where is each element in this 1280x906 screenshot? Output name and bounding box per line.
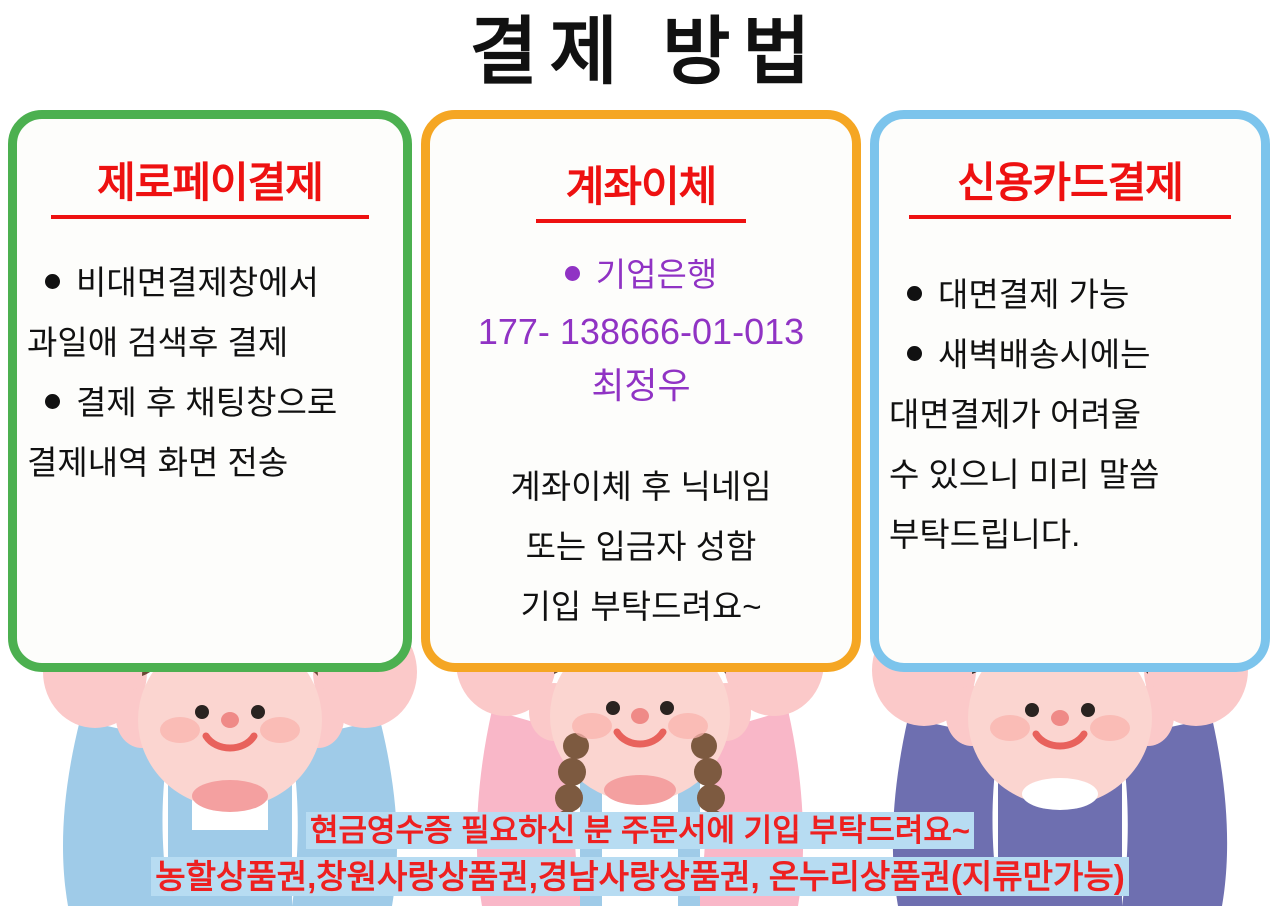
transfer-note-line: 계좌이체 후 닉네임 — [440, 457, 842, 517]
page-title: 결제 방법 — [0, 4, 1280, 100]
card-zeropay-body: 비대면결제창에서 과일애 검색후 결제 결제 후 채팅창으로 결제내역 화면 전… — [27, 253, 393, 493]
list-item: 새벽배송시에는 — [889, 325, 1251, 385]
list-item: 대면결제가 어려울 — [889, 385, 1251, 445]
list-item-label: 과일애 검색후 결제 — [27, 324, 288, 361]
payment-method-cards: 제로페이결제 비대면결제창에서 과일애 검색후 결제 결제 후 채팅창으로 결제… — [0, 110, 1280, 675]
banner-line-gift-certificates: 농할상품권,창원사랑상품권,경남사랑상품권, 온누리상품권(지류만가능) — [0, 854, 1280, 900]
bottom-banner: 현금영수증 필요하신 분 주문서에 기입 부탁드려요~ 농할상품권,창원사랑상품… — [0, 808, 1280, 900]
bullet-icon — [565, 266, 580, 281]
bank-name-row: 기업은행 — [440, 245, 842, 305]
list-item-label: 대면결제 가능 — [938, 276, 1129, 313]
card-credit-card-body: 대면결제 가능 새벽배송시에는 대면결제가 어려울 수 있으니 미리 말씀 부탁… — [889, 265, 1251, 565]
card-bank-transfer: 계좌이체 기업은행 177- 138666-01-013 최정우 계좌이체 후 … — [421, 110, 861, 672]
bank-name-label: 기업은행 — [596, 256, 717, 293]
payment-method-poster: 결제 방법 — [0, 0, 1280, 906]
list-item-label: 결제내역 화면 전송 — [27, 444, 288, 481]
bullet-icon — [45, 274, 60, 289]
list-item: 수 있으니 미리 말씀 — [889, 445, 1251, 505]
list-item: 대면결제 가능 — [889, 265, 1251, 325]
list-item-label: 결제 후 채팅창으로 — [76, 384, 337, 421]
card-bank-transfer-body: 기업은행 177- 138666-01-013 최정우 계좌이체 후 닉네임 또… — [440, 245, 842, 637]
banner-line-1-text: 현금영수증 필요하신 분 주문서에 기입 부탁드려요~ — [306, 812, 974, 849]
list-item-label: 대면결제가 어려울 — [889, 396, 1141, 433]
card-credit-card-title-underline — [909, 215, 1231, 219]
list-item: 결제내역 화면 전송 — [27, 433, 393, 493]
list-item-label: 새벽배송시에는 — [938, 336, 1151, 373]
card-zeropay-title-underline — [51, 215, 369, 219]
card-zeropay: 제로페이결제 비대면결제창에서 과일애 검색후 결제 결제 후 채팅창으로 결제… — [8, 110, 412, 672]
transfer-note-line: 또는 입금자 성함 — [440, 517, 842, 577]
spacer — [440, 413, 842, 457]
banner-line-cash-receipt: 현금영수증 필요하신 분 주문서에 기입 부탁드려요~ — [0, 808, 1280, 854]
bullet-icon — [45, 394, 60, 409]
transfer-note-line: 기입 부탁드려요~ — [440, 577, 842, 637]
list-item: 결제 후 채팅창으로 — [27, 373, 393, 433]
card-bank-transfer-title: 계좌이체 — [440, 159, 842, 215]
account-holder: 최정우 — [440, 359, 842, 413]
list-item: 비대면결제창에서 — [27, 253, 393, 313]
list-item-label: 부탁드립니다. — [889, 516, 1080, 553]
list-item-label: 비대면결제창에서 — [76, 264, 319, 301]
card-credit-card: 신용카드결제 대면결제 가능 새벽배송시에는 대면결제가 어려울 수 있으니 미… — [870, 110, 1270, 672]
bullet-icon — [907, 346, 922, 361]
list-item-label: 수 있으니 미리 말씀 — [889, 456, 1159, 493]
bullet-icon — [907, 286, 922, 301]
card-bank-transfer-title-underline — [536, 219, 746, 223]
card-credit-card-title: 신용카드결제 — [889, 155, 1251, 211]
banner-line-2-text: 농할상품권,창원사랑상품권,경남사랑상품권, 온누리상품권(지류만가능) — [151, 857, 1128, 896]
card-zeropay-title: 제로페이결제 — [27, 155, 393, 211]
list-item: 부탁드립니다. — [889, 505, 1251, 565]
account-number: 177- 138666-01-013 — [440, 305, 842, 359]
list-item: 과일애 검색후 결제 — [27, 313, 393, 373]
